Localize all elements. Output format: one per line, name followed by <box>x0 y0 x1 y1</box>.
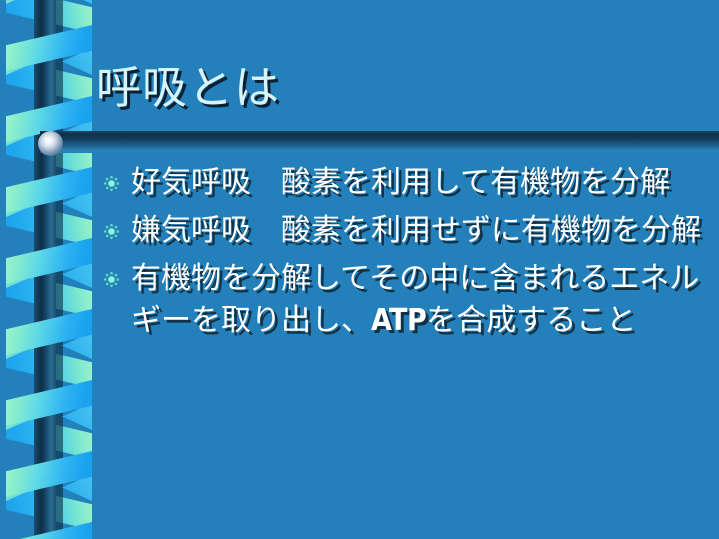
slide-title: 呼吸とは <box>96 60 280 116</box>
list-item-label: 嫌気呼吸 酸素を利用せずに有機物を分解 <box>131 210 704 252</box>
slide-body-list: 好気呼吸 酸素を利用して有機物を分解 <box>104 162 704 348</box>
list-item-label: 好気呼吸 酸素を利用して有機物を分解 <box>131 162 704 204</box>
divider-orb-icon <box>38 131 63 156</box>
helix-ribbon-decoration <box>0 0 92 539</box>
list-item-label-post: を合成すること <box>426 303 636 338</box>
gear-bullet-icon <box>104 176 119 191</box>
list-item-label-atp: ATP <box>371 303 426 338</box>
list-item-label: 有機物を分解してその中に含まれるエネルギーを取り出し、ATPを合成すること <box>131 258 704 342</box>
list-item: 有機物を分解してその中に含まれるエネルギーを取り出し、ATPを合成すること <box>104 258 704 342</box>
gear-bullet-icon <box>104 272 119 287</box>
presentation-slide: 呼吸とは <box>0 0 719 539</box>
list-item: 嫌気呼吸 酸素を利用せずに有機物を分解 <box>104 210 704 252</box>
title-divider-bar <box>48 131 719 153</box>
gear-bullet-icon <box>104 224 119 239</box>
list-item: 好気呼吸 酸素を利用して有機物を分解 <box>104 162 704 204</box>
